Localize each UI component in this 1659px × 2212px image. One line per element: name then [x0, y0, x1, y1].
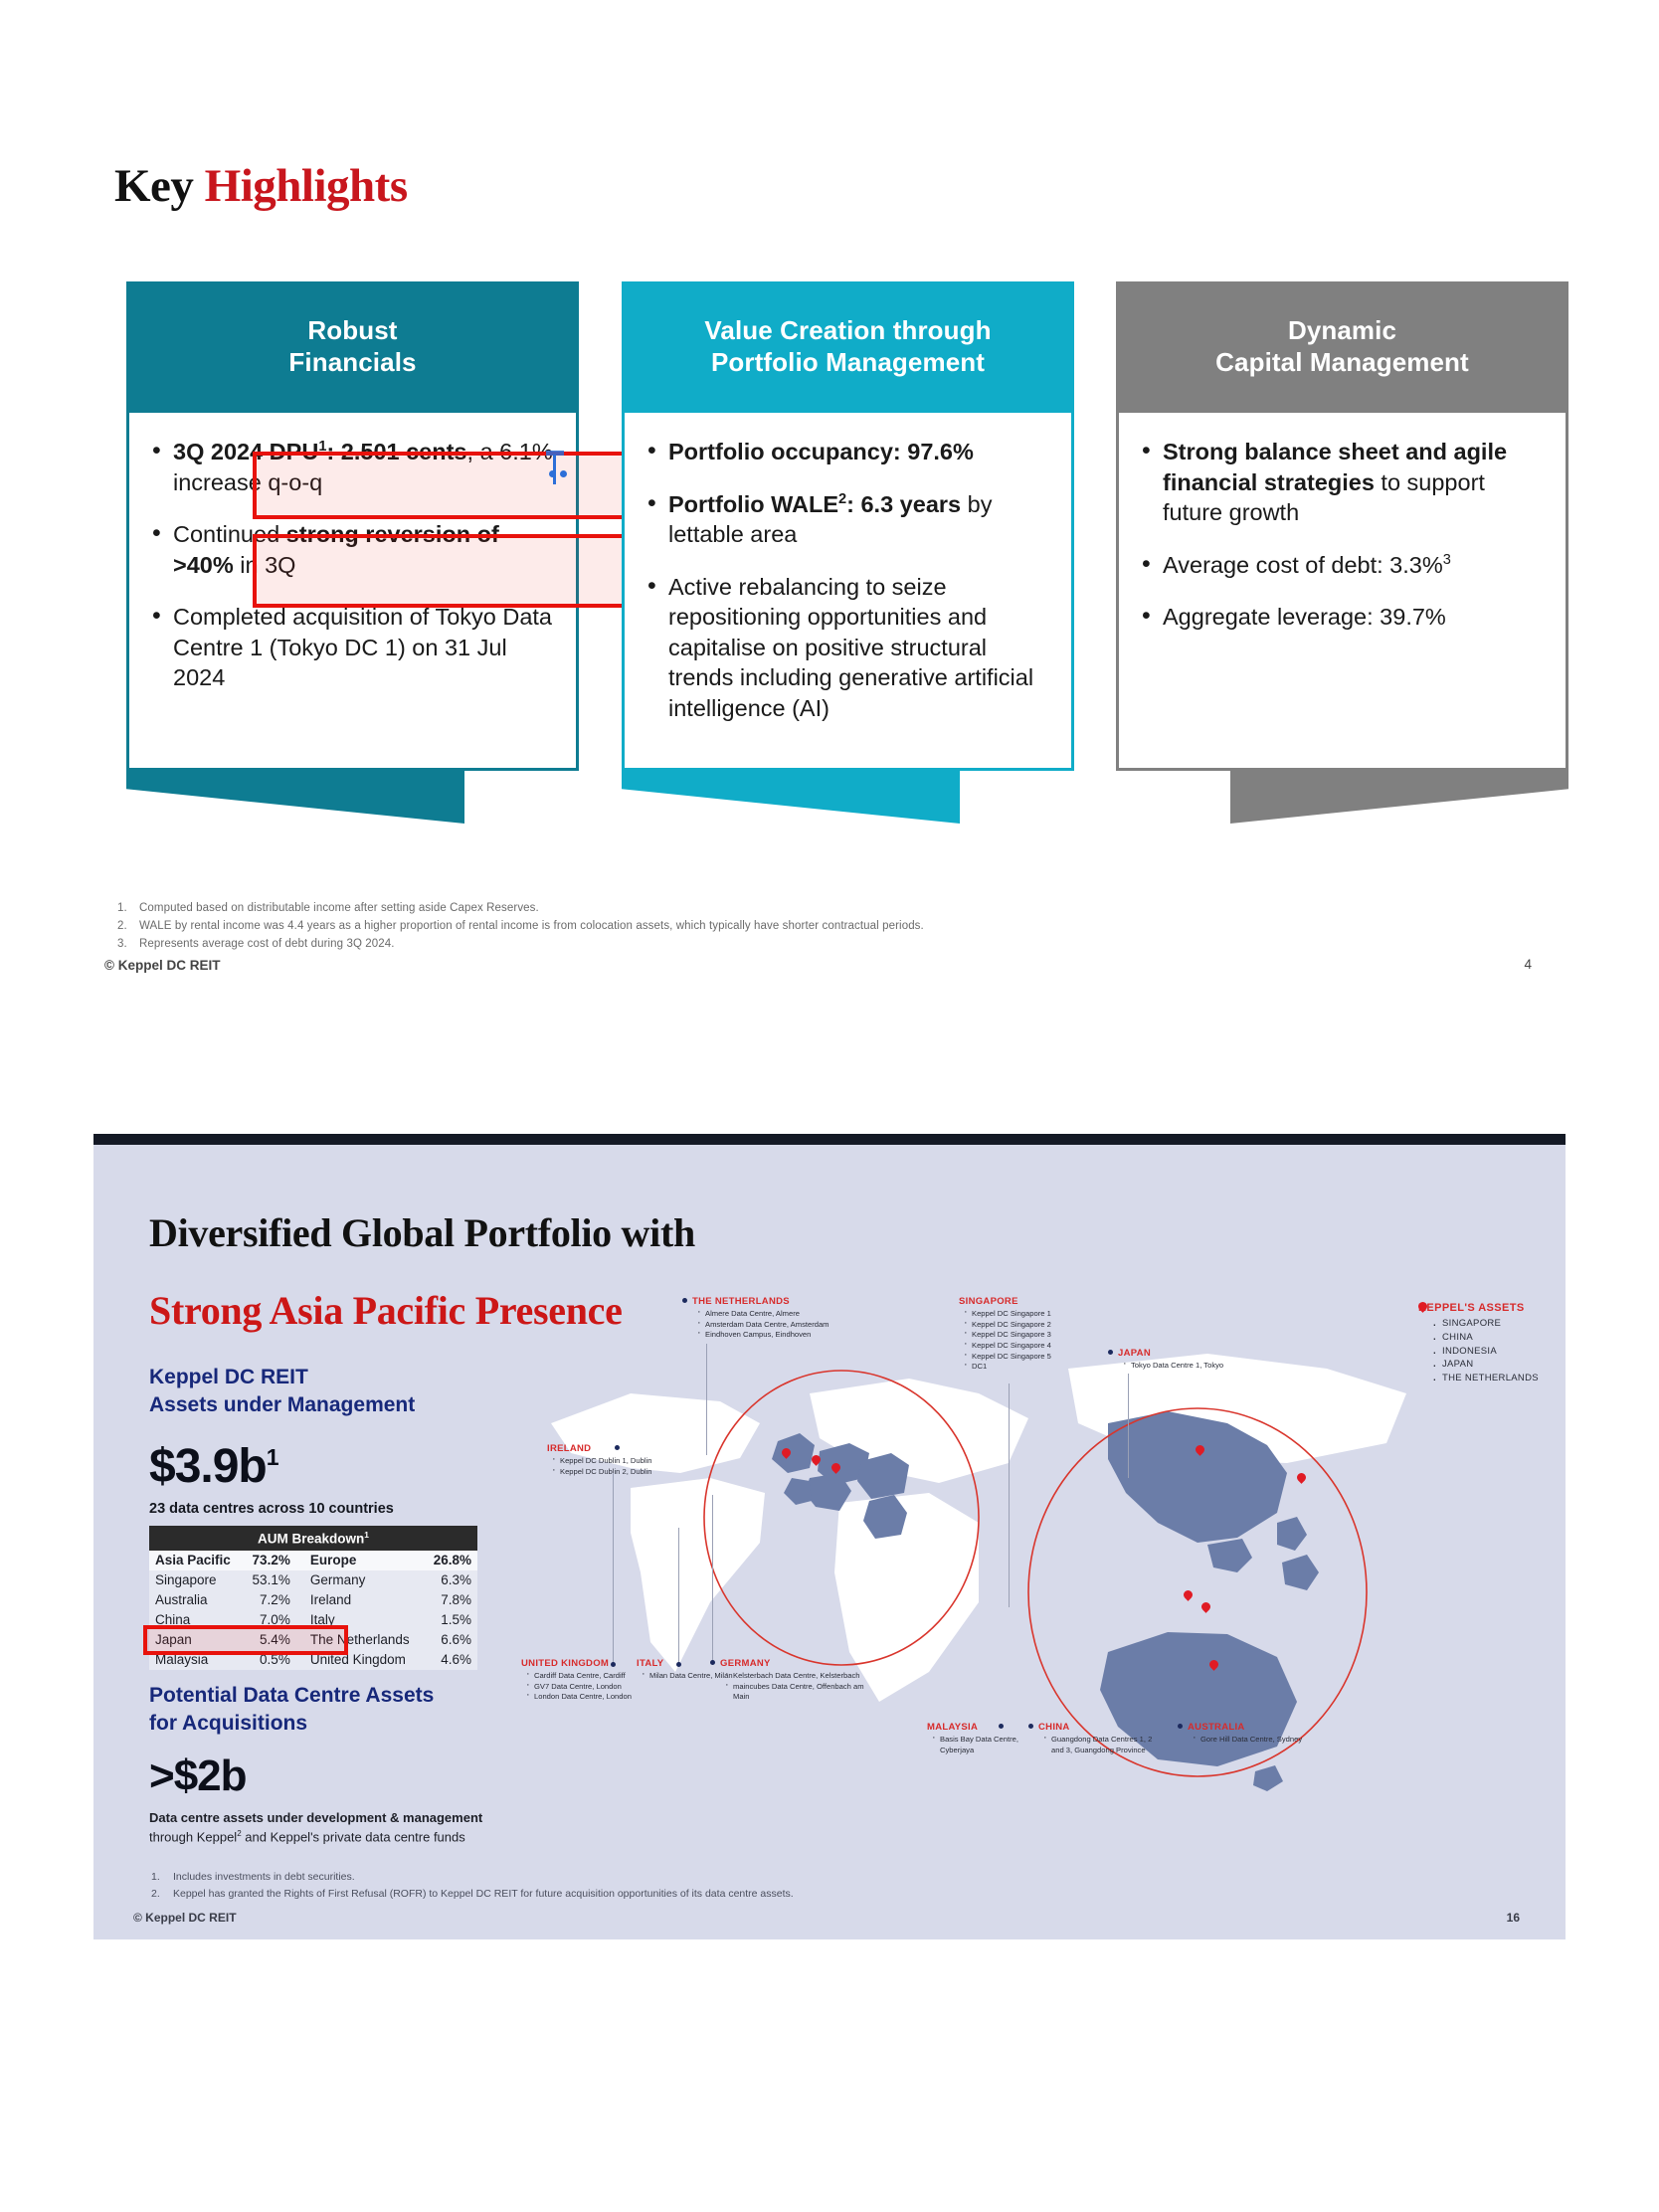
- aum-table-title-row: AUM Breakdown1: [149, 1526, 477, 1551]
- map-callout-singapore: SINGAPORE Keppel DC Singapore 1 Keppel D…: [959, 1296, 1088, 1373]
- column-3-header-line1: Dynamic: [1215, 315, 1469, 347]
- callout-item: Tokyo Data Centre 1, Tokyo: [1123, 1361, 1237, 1372]
- callout-list: Kelsterbach Data Centre, Kelsterbach mai…: [725, 1671, 864, 1703]
- slide1-title-part1: Key: [114, 160, 205, 212]
- footnote-row: 3. Represents average cost of debt durin…: [117, 936, 1211, 954]
- map-callout-germany: GERMANY Kelsterbach Data Centre, Kelster…: [720, 1658, 864, 1703]
- annotation-box-china-row: [143, 1625, 348, 1655]
- slide-key-highlights: Key Highlights Robust Financials 3Q 2024…: [0, 0, 1659, 1014]
- callout-title: JAPAN: [1118, 1348, 1237, 1359]
- column-2-header-line1: Value Creation through: [704, 315, 991, 347]
- potential-assets-desc-bold: Data centre assets under development & m…: [149, 1809, 482, 1828]
- column-3-body: Strong balance sheet and agile financial…: [1116, 413, 1568, 771]
- callout-item: Almere Data Centre, Almere: [697, 1309, 831, 1320]
- bullet-rebalancing: Active rebalancing to seize repositionin…: [639, 572, 1053, 724]
- column-1-header-line2: Financials: [288, 347, 416, 379]
- map-pin-australia: [1209, 1660, 1218, 1673]
- bullet-balance-sheet: Strong balance sheet and agile financial…: [1133, 437, 1548, 528]
- callout-item: Gore Hill Data Centre, Sydney: [1193, 1735, 1357, 1746]
- column-value-creation: Value Creation through Portfolio Managem…: [622, 281, 1074, 771]
- callout-title: UNITED KINGDOM: [521, 1658, 645, 1669]
- callout-item: London Data Centre, London: [526, 1692, 645, 1703]
- potential-assets-desc-rest: through Keppel2 and Keppel's private dat…: [149, 1828, 482, 1847]
- slide2-copyright: © Keppel DC REIT: [133, 1911, 237, 1925]
- map-legend-title: ● KEPPEL'S ASSETS: [1418, 1302, 1577, 1314]
- callout-list: Basis Bay Data Centre, Cyberjaya: [932, 1735, 1046, 1755]
- footnote-row: 1. Computed based on distributable incom…: [117, 900, 1211, 918]
- callout-dot-malaysia: [999, 1724, 1004, 1729]
- aum-table-title-text: AUM Breakdown: [258, 1532, 364, 1547]
- map-legend: ● KEPPEL'S ASSETS SINGAPORE CHINA INDONE…: [1418, 1302, 1577, 1385]
- callout-item: Keppel DC Singapore 3: [964, 1330, 1088, 1341]
- callout-dot-uk: [611, 1662, 616, 1667]
- column-dynamic-capital: Dynamic Capital Management Strong balanc…: [1116, 281, 1568, 771]
- country-value-germany: 6.3%: [424, 1570, 477, 1590]
- callout-title: GERMANY: [720, 1658, 864, 1669]
- map-callout-netherlands: THE NETHERLANDS Almere Data Centre, Alme…: [692, 1296, 831, 1341]
- bullet-aggregate-leverage: Aggregate leverage: 39.7%: [1133, 602, 1548, 633]
- callout-dot-germany: [710, 1660, 715, 1665]
- slide2-title-line1: Diversified Global Portfolio with: [149, 1209, 695, 1256]
- map-pin-singapore: [1201, 1602, 1210, 1615]
- map-pin-china: [1196, 1445, 1204, 1458]
- slide1-copyright: © Keppel DC REIT: [104, 958, 220, 973]
- callout-list: Guangdong Data Centres 1, 2 and 3, Guang…: [1043, 1735, 1163, 1755]
- map-pin-germany: [831, 1463, 840, 1476]
- country-name-germany: Germany: [296, 1570, 424, 1590]
- legend-item: SINGAPORE: [1432, 1317, 1577, 1331]
- callout-title: CHINA: [1038, 1722, 1163, 1733]
- aum-table-title-superscript: 1: [364, 1530, 369, 1540]
- legend-item: THE NETHERLANDS: [1432, 1372, 1577, 1385]
- callout-title: IRELAND: [547, 1443, 661, 1454]
- country-name-ireland: Ireland: [296, 1590, 424, 1610]
- location-pin-icon: ●: [1418, 1302, 1427, 1315]
- callout-leader-line-netherlands: [706, 1344, 707, 1455]
- callout-dot-australia: [1178, 1724, 1183, 1729]
- callout-list: Almere Data Centre, Almere Amsterdam Dat…: [697, 1309, 831, 1341]
- table-row: Australia 7.2% Ireland 7.8%: [149, 1590, 477, 1610]
- potential-assets-value: >$2b: [149, 1751, 247, 1801]
- footnote-row: 2. Keppel has granted the Rights of Firs…: [151, 1886, 1046, 1903]
- footnote-row: 2. WALE by rental income was 4.4 years a…: [117, 918, 1211, 936]
- footnote-text: Represents average cost of debt during 3…: [139, 936, 395, 954]
- bullet-dpu: 3Q 2024 DPU1: 2.501 cents, a 6.1% increa…: [143, 437, 558, 497]
- column-1-bullets: 3Q 2024 DPU1: 2.501 cents, a 6.1% increa…: [143, 437, 558, 693]
- callout-leader-line-japan: [1128, 1374, 1129, 1478]
- slide1-title-part2: Highlights: [205, 160, 408, 212]
- aum-label: Keppel DC REIT Assets under Management: [149, 1364, 415, 1420]
- callout-list: Cardiff Data Centre, Cardiff GV7 Data Ce…: [526, 1671, 645, 1703]
- callout-dot-italy: [676, 1662, 681, 1667]
- map-callout-australia: AUSTRALIA Gore Hill Data Centre, Sydney: [1188, 1722, 1357, 1746]
- callout-item: Guangdong Data Centres 1, 2 and 3, Guang…: [1043, 1735, 1163, 1755]
- aum-value-superscript: 1: [267, 1444, 278, 1470]
- callout-dot-japan: [1108, 1350, 1113, 1355]
- slide-diversified-portfolio: Diversified Global Portfolio with Strong…: [93, 1134, 1566, 1939]
- callout-item: Amsterdam Data Centre, Amsterdam: [697, 1320, 831, 1331]
- country-value-uk: 4.6%: [424, 1650, 477, 1670]
- column-3-header: Dynamic Capital Management: [1116, 281, 1568, 413]
- footnote-number: 1.: [151, 1869, 173, 1886]
- aum-subtitle: 23 data centres across 10 countries: [149, 1501, 394, 1517]
- callout-title: SINGAPORE: [959, 1296, 1088, 1307]
- aum-label-line1: Keppel DC REIT: [149, 1364, 415, 1391]
- region-value-europe: 26.8%: [424, 1551, 477, 1570]
- column-1-header: Robust Financials: [126, 281, 579, 413]
- column-1-ribbon-tail: [126, 768, 464, 824]
- footnote-number: 2.: [117, 918, 139, 936]
- callout-leader-line-uk: [613, 1473, 614, 1662]
- potential-desc-pre: through Keppel: [149, 1829, 237, 1844]
- callout-leader-line-germany: [712, 1495, 713, 1660]
- callout-item: Basis Bay Data Centre, Cyberjaya: [932, 1735, 1046, 1755]
- potential-desc-post: and Keppel's private data centre funds: [242, 1829, 465, 1844]
- bullet-reversion: Continued strong reversion of >40% in 3Q: [143, 519, 558, 580]
- slide1-page-number: 4: [1524, 957, 1532, 972]
- map-callout-ireland: IRELAND Keppel DC Dublin 1, Dublin Keppe…: [547, 1443, 661, 1477]
- callout-item: Keppel DC Dublin 2, Dublin: [552, 1467, 661, 1478]
- callout-item: maincubes Data Centre, Offenbach am Main: [725, 1682, 864, 1703]
- callout-list: Gore Hill Data Centre, Sydney: [1193, 1735, 1357, 1746]
- callout-item: Keppel DC Singapore 2: [964, 1320, 1088, 1331]
- callout-item: Kelsterbach Data Centre, Kelsterbach: [725, 1671, 864, 1682]
- callout-leader-line-singapore: [1009, 1383, 1010, 1607]
- column-1-header-line1: Robust: [288, 315, 416, 347]
- bullet-wale: Portfolio WALE2: 6.3 years by lettable a…: [639, 489, 1053, 550]
- column-3-bullets: Strong balance sheet and agile financial…: [1133, 437, 1548, 633]
- footnote-number: 2.: [151, 1886, 173, 1903]
- country-value-netherlands: 6.6%: [424, 1630, 477, 1650]
- map-legend-list: SINGAPORE CHINA INDONESIA JAPAN THE NETH…: [1432, 1317, 1577, 1385]
- country-value-singapore: 53.1%: [243, 1570, 296, 1590]
- bullet-tokyo-acquisition: Completed acquisition of Tokyo Data Cent…: [143, 602, 558, 693]
- callout-item: DC1: [964, 1362, 1088, 1373]
- footnote-text: Computed based on distributable income a…: [139, 900, 539, 918]
- highlight-columns: Robust Financials 3Q 2024 DPU1: 2.501 ce…: [0, 281, 1659, 858]
- table-row: Asia Pacific 73.2% Europe 26.8%: [149, 1551, 477, 1570]
- legend-item: CHINA: [1432, 1331, 1577, 1345]
- column-robust-financials: Robust Financials 3Q 2024 DPU1: 2.501 ce…: [126, 281, 579, 771]
- legend-item: JAPAN: [1432, 1358, 1577, 1372]
- callout-list: Keppel DC Dublin 1, Dublin Keppel DC Dub…: [552, 1456, 661, 1477]
- column-2-header-line2: Portfolio Management: [704, 347, 991, 379]
- callout-item: Keppel DC Singapore 4: [964, 1341, 1088, 1352]
- callout-item: Cardiff Data Centre, Cardiff: [526, 1671, 645, 1682]
- map-pin-uk: [782, 1448, 791, 1461]
- region-value-asia-pacific: 73.2%: [243, 1551, 296, 1570]
- map-legend-title-text: KEPPEL'S ASSETS: [1418, 1302, 1525, 1314]
- callout-dot-ireland: [615, 1445, 620, 1450]
- column-1-body: 3Q 2024 DPU1: 2.501 cents, a 6.1% increa…: [126, 413, 579, 771]
- footnote-number: 1.: [117, 900, 139, 918]
- slide2-page-number: 16: [1507, 1911, 1520, 1925]
- map-callout-japan: JAPAN Tokyo Data Centre 1, Tokyo: [1118, 1348, 1237, 1372]
- callout-item: Keppel DC Singapore 5: [964, 1352, 1088, 1363]
- callout-item: Eindhoven Campus, Eindhoven: [697, 1330, 831, 1341]
- slide1-footnotes: 1. Computed based on distributable incom…: [117, 900, 1211, 953]
- bullet-occupancy: Portfolio occupancy: 97.6%: [639, 437, 1053, 467]
- column-2-ribbon-tail: [622, 768, 960, 824]
- callout-dot-netherlands: [682, 1298, 687, 1303]
- footnote-number: 3.: [117, 936, 139, 954]
- region-name-europe: Europe: [296, 1551, 424, 1570]
- footnote-text: Includes investments in debt securities.: [173, 1869, 355, 1886]
- slide1-title: Key Highlights: [114, 159, 408, 213]
- callout-dot-china: [1028, 1724, 1033, 1729]
- aum-value-text: $3.9b: [149, 1440, 267, 1493]
- map-pin-malaysia: [1184, 1590, 1193, 1603]
- footnote-text: WALE by rental income was 4.4 years as a…: [139, 918, 924, 936]
- legend-item: INDONESIA: [1432, 1345, 1577, 1359]
- callout-item: Keppel DC Singapore 1: [964, 1309, 1088, 1320]
- callout-list: Keppel DC Singapore 1 Keppel DC Singapor…: [964, 1309, 1088, 1373]
- map-pin-netherlands: [812, 1455, 821, 1468]
- country-name-singapore: Singapore: [149, 1570, 243, 1590]
- country-value-australia: 7.2%: [243, 1590, 296, 1610]
- country-value-ireland: 7.8%: [424, 1590, 477, 1610]
- potential-assets-description: Data centre assets under development & m…: [149, 1809, 482, 1847]
- callout-item: GV7 Data Centre, London: [526, 1682, 645, 1693]
- map-callout-uk: UNITED KINGDOM Cardiff Data Centre, Card…: [521, 1658, 645, 1703]
- table-row: Singapore 53.1% Germany 6.3%: [149, 1570, 477, 1590]
- text-cursor-icon: [544, 451, 566, 490]
- slide2-footnotes: 1. Includes investments in debt securiti…: [151, 1869, 1046, 1903]
- footnote-text: Keppel has granted the Rights of First R…: [173, 1886, 794, 1903]
- column-3-header-line2: Capital Management: [1215, 347, 1469, 379]
- potential-assets-label: Potential Data Centre Assets for Acquisi…: [149, 1682, 434, 1739]
- country-name-australia: Australia: [149, 1590, 243, 1610]
- callout-list: Tokyo Data Centre 1, Tokyo: [1123, 1361, 1237, 1372]
- column-2-bullets: Portfolio occupancy: 97.6% Portfolio WAL…: [639, 437, 1053, 723]
- map-pin-japan: [1297, 1473, 1306, 1486]
- bullet-cost-of-debt: Average cost of debt: 3.3%3: [1133, 550, 1548, 581]
- aum-label-line2: Assets under Management: [149, 1391, 415, 1419]
- callout-item: Keppel DC Dublin 1, Dublin: [552, 1456, 661, 1467]
- column-3-ribbon-tail: [1230, 768, 1568, 824]
- region-name-asia-pacific: Asia Pacific: [149, 1551, 243, 1570]
- callout-title: THE NETHERLANDS: [692, 1296, 831, 1307]
- potential-assets-label-line1: Potential Data Centre Assets: [149, 1682, 434, 1710]
- world-map: ● KEPPEL'S ASSETS SINGAPORE CHINA INDONE…: [511, 1274, 1556, 1911]
- column-2-body: Portfolio occupancy: 97.6% Portfolio WAL…: [622, 413, 1074, 771]
- callout-title: AUSTRALIA: [1188, 1722, 1357, 1733]
- footnote-row: 1. Includes investments in debt securiti…: [151, 1869, 1046, 1886]
- callout-leader-line-italy: [678, 1528, 679, 1662]
- presentation-page: Key Highlights Robust Financials 3Q 2024…: [0, 0, 1659, 2212]
- potential-assets-label-line2: for Acquisitions: [149, 1710, 434, 1738]
- aum-value: $3.9b1: [149, 1439, 278, 1494]
- map-callout-china: CHINA Guangdong Data Centres 1, 2 and 3,…: [1038, 1722, 1163, 1755]
- country-value-italy: 1.5%: [424, 1610, 477, 1630]
- aum-table-title: AUM Breakdown1: [149, 1526, 477, 1551]
- column-2-header: Value Creation through Portfolio Managem…: [622, 281, 1074, 413]
